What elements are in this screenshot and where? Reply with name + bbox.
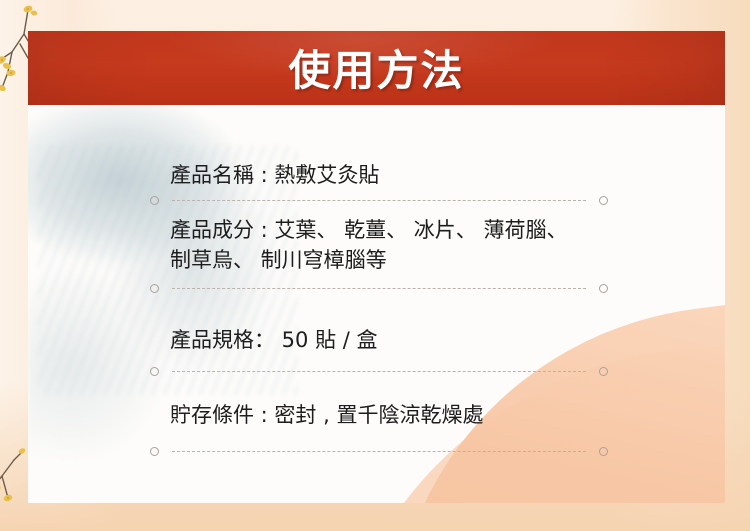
divider-dot-left-icon — [150, 367, 159, 376]
spec-list: 產品名稱 : 熱敷艾灸貼 產品成分 : 艾葉、 乾薑、 冰片、 薄荷腦、 制草烏… — [0, 0, 750, 531]
poster-root: 使用方法 產品名稱 : 熱敷艾灸貼 產品成分 : 艾葉、 乾薑、 冰片、 薄荷腦… — [0, 0, 750, 531]
divider-line — [172, 288, 586, 289]
row-ingredients: 產品成分 : 艾葉、 乾薑、 冰片、 薄荷腦、 制草烏、 制川穹樟腦等 — [170, 215, 567, 275]
divider-1 — [150, 196, 608, 205]
divider-line — [172, 451, 586, 452]
divider-line — [172, 371, 586, 372]
row-storage: 貯存條件 : 密封 , 置千陰涼乾燥處 — [170, 400, 483, 430]
divider-dot-left-icon — [150, 447, 159, 456]
divider-line — [172, 200, 586, 201]
divider-4 — [150, 447, 608, 456]
divider-3 — [150, 367, 608, 376]
divider-dot-right-icon — [599, 284, 608, 293]
divider-dot-left-icon — [150, 284, 159, 293]
row-product-name: 產品名稱 : 熱敷艾灸貼 — [170, 160, 379, 190]
divider-dot-left-icon — [150, 196, 159, 205]
divider-2 — [150, 284, 608, 293]
row-specification: 產品規格： 50 貼 / 盒 — [170, 325, 378, 355]
divider-dot-right-icon — [599, 447, 608, 456]
divider-dot-right-icon — [599, 196, 608, 205]
divider-dot-right-icon — [599, 367, 608, 376]
